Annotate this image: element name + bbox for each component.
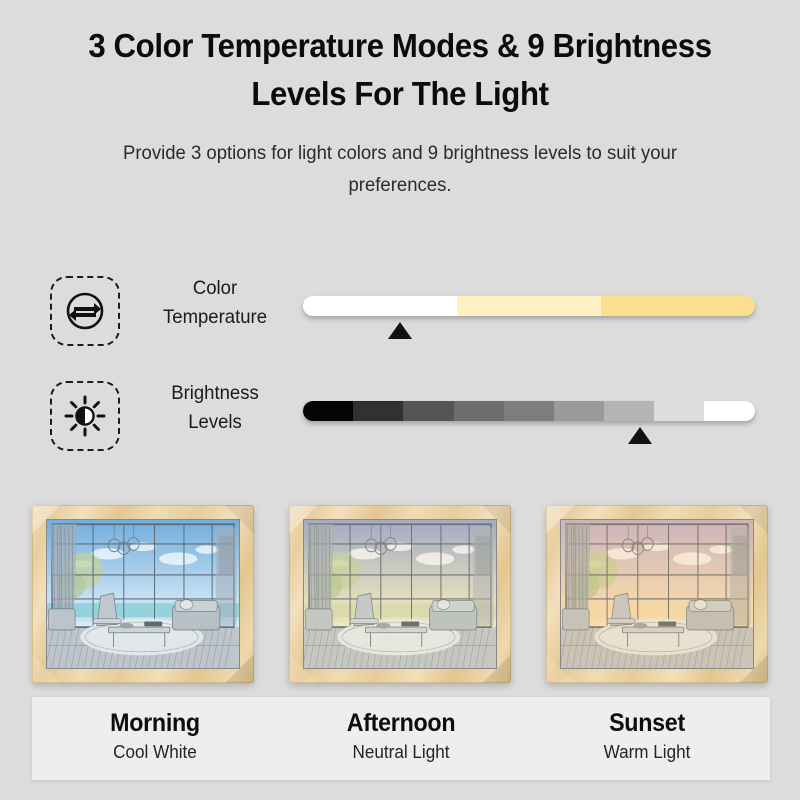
slider-segment-cool-white [303,296,457,316]
caption-afternoon: Afternoon Neutral Light [278,697,524,780]
frame-afternoon[interactable] [289,505,511,683]
control-label-line-2: Temperature [144,303,287,332]
two-way-arrow-circle-icon [50,276,120,346]
slider-segment-level-2 [353,401,403,421]
caption-subtitle: Warm Light [530,739,764,765]
frame-sunset[interactable] [546,505,768,683]
caption-subtitle: Cool White [38,739,272,765]
slider-segment-level-3 [403,401,453,421]
slider-segment-neutral [457,296,602,316]
slider-segment-level-4 [454,401,504,421]
caption-title: Sunset [533,708,762,738]
brightness-levels-slider[interactable] [303,401,755,421]
caption-panel: Morning Cool White Afternoon Neutral Lig… [32,697,770,780]
slider-segment-level-5 [504,401,554,421]
control-row-color-temperature: Color Temperature [0,262,800,362]
slider-segment-level-1 [303,401,353,421]
control-label-line-2: Levels [144,408,287,437]
control-label-color-temperature: Color Temperature [144,274,287,331]
color-temperature-slider-marker[interactable] [388,322,412,339]
page-title: 3 Color Temperature Modes & 9 Brightness… [47,0,754,118]
slider-segment-level-9 [704,401,755,421]
frames-row [0,500,800,690]
slider-segment-level-7 [604,401,654,421]
slider-segment-level-6 [554,401,604,421]
control-row-brightness-levels: Brightness Levels [0,367,800,467]
slider-segment-warm [601,296,755,316]
caption-title: Morning [41,708,270,738]
caption-sunset: Sunset Warm Light [524,697,770,780]
caption-title: Afternoon [287,708,516,738]
caption-morning: Morning Cool White [32,697,278,780]
artwork-afternoon [303,519,497,669]
artwork-morning [46,519,240,669]
frame-morning[interactable] [32,505,254,683]
brightness-levels-slider-marker[interactable] [628,427,652,444]
control-label-line-1: Color [144,274,287,303]
controls-section: Color Temperature [0,250,800,465]
slider-segment-level-8 [654,401,704,421]
control-label-brightness-levels: Brightness Levels [144,379,287,436]
brightness-sun-icon [50,381,120,451]
page-subtitle: Provide 3 options for light colors and 9… [115,138,685,201]
control-label-line-1: Brightness [144,379,287,408]
artwork-sunset [560,519,754,669]
caption-subtitle: Neutral Light [284,739,518,765]
color-temperature-slider[interactable] [303,296,755,316]
